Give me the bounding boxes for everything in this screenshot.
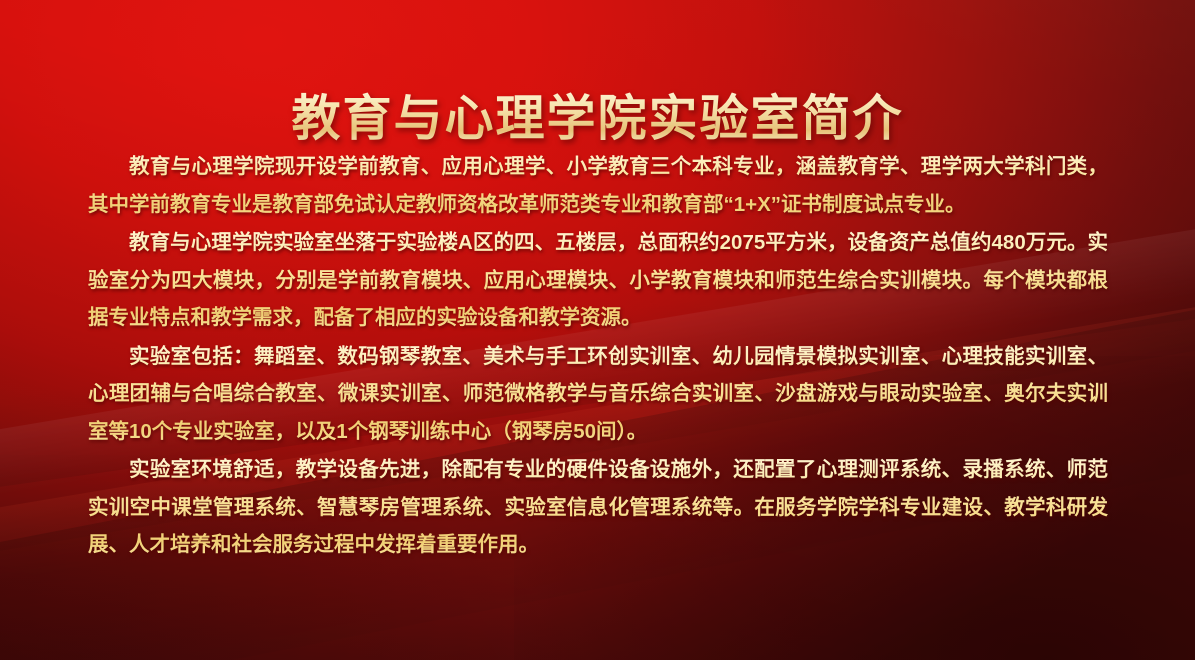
- paragraph-location-and-modules: 教育与心理学院实验室坐落于实验楼A区的四、五楼层，总面积约2075平方米，设备资…: [88, 224, 1108, 337]
- slide-content: 教育与心理学院实验室简介 教育与心理学院现开设学前教育、应用心理学、小学教育三个…: [0, 0, 1195, 660]
- presentation-slide: 教育与心理学院实验室简介 教育与心理学院现开设学前教育、应用心理学、小学教育三个…: [0, 0, 1195, 660]
- paragraph-lab-list: 实验室包括：舞蹈室、数码钢琴教室、美术与手工环创实训室、幼儿园情景模拟实训室、心…: [88, 338, 1108, 451]
- slide-body-text: 教育与心理学院现开设学前教育、应用心理学、小学教育三个本科专业，涵盖教育学、理学…: [88, 148, 1108, 565]
- paragraph-environment-and-systems: 实验室环境舒适，教学设备先进，除配有专业的硬件设备设施外，还配置了心理测评系统、…: [88, 451, 1108, 564]
- slide-title: 教育与心理学院实验室简介: [0, 89, 1195, 148]
- paragraph-intro: 教育与心理学院现开设学前教育、应用心理学、小学教育三个本科专业，涵盖教育学、理学…: [88, 148, 1108, 223]
